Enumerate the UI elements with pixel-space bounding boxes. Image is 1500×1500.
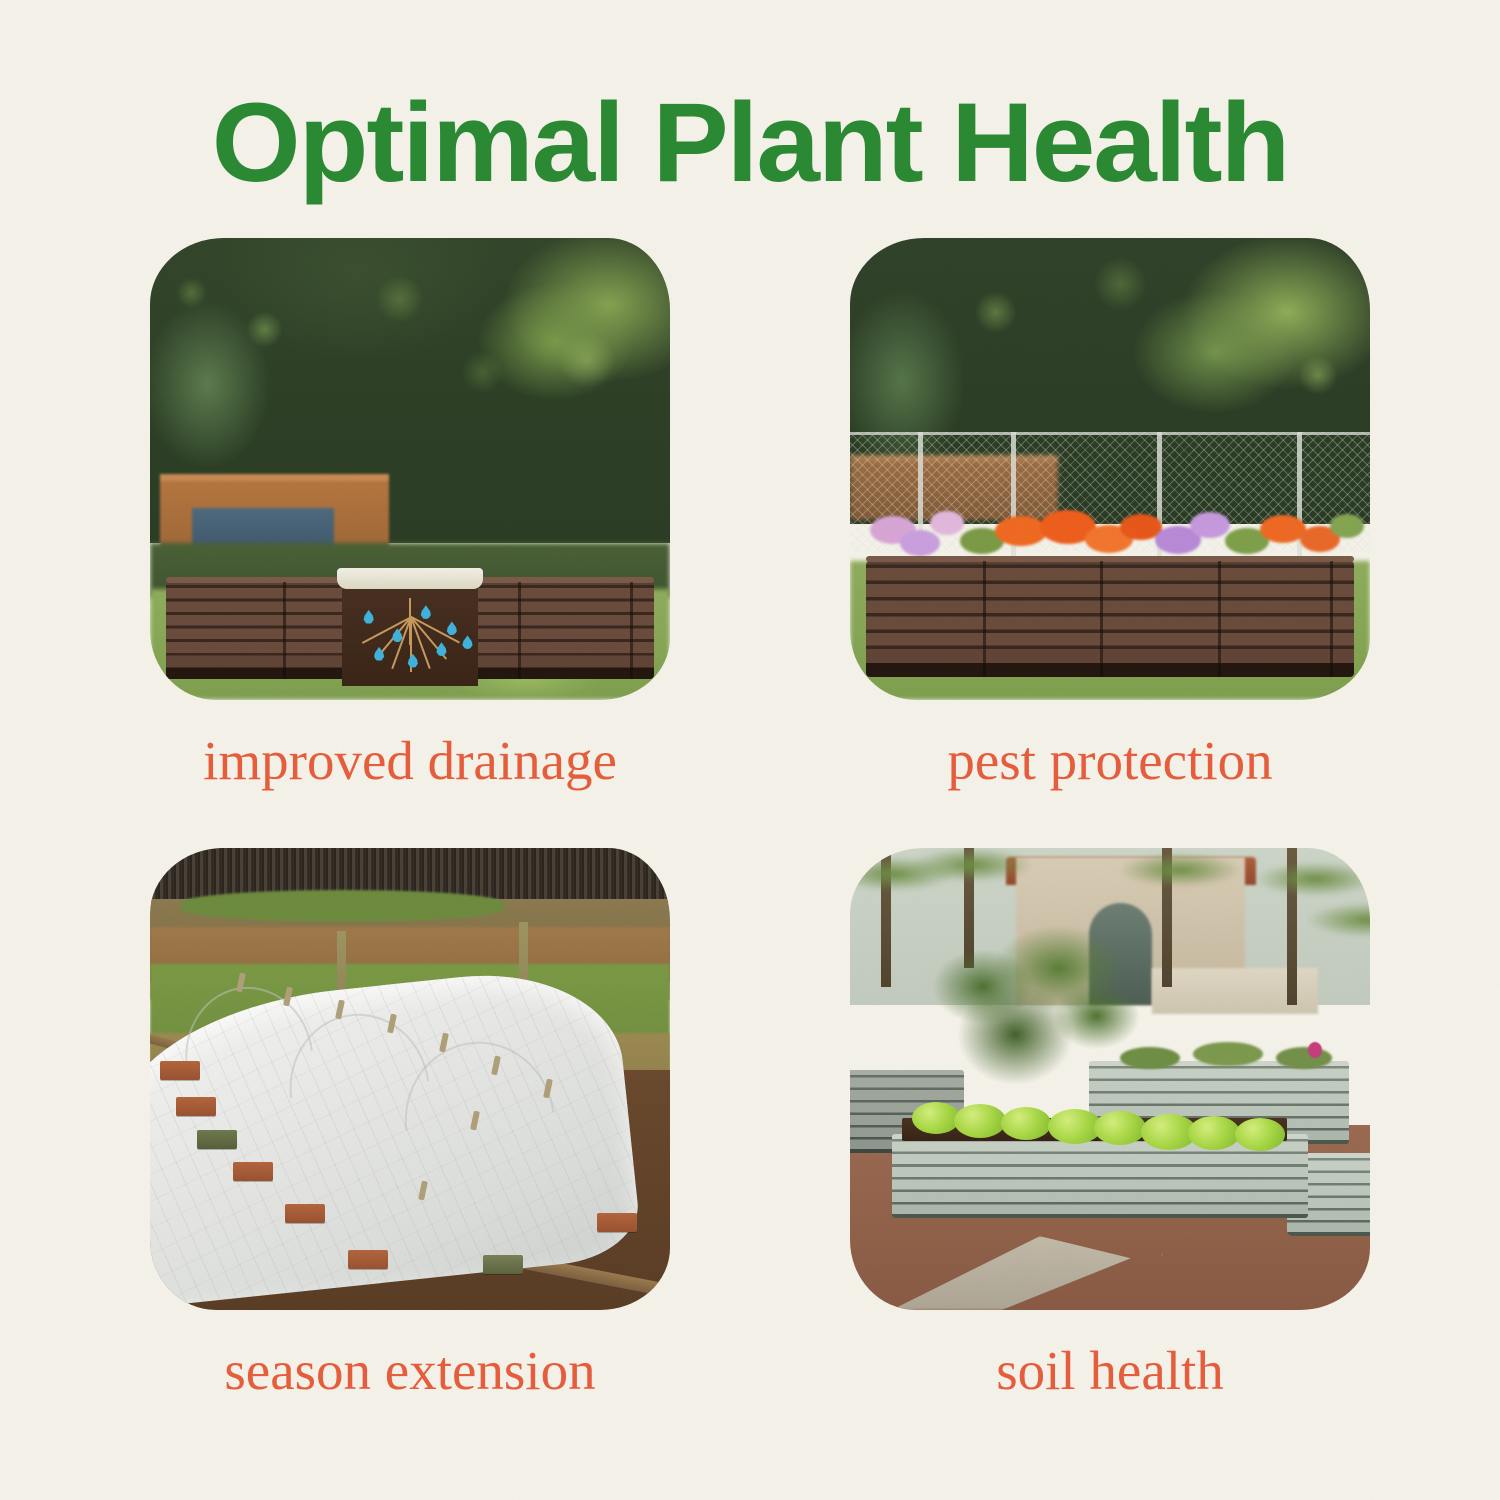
photo-improved-drainage[interactable] <box>150 238 670 700</box>
brick-weight <box>160 1061 200 1080</box>
feature-grid: improved drainage <box>150 238 1370 1448</box>
brick-weight <box>597 1213 637 1232</box>
feature-card-season-extension[interactable]: season extension <box>150 848 670 1310</box>
photo-soil-health[interactable] <box>850 848 1370 1310</box>
brick-weight <box>176 1097 216 1116</box>
caption-season-extension: season extension <box>110 1340 710 1402</box>
brick-weight <box>285 1204 325 1223</box>
feature-card-soil-health[interactable]: soil health <box>850 848 1370 1310</box>
feature-card-improved-drainage[interactable]: improved drainage <box>150 238 670 700</box>
caption-soil-health: soil health <box>810 1340 1410 1402</box>
caption-pest-protection: pest protection <box>810 730 1410 792</box>
brick-weight <box>233 1162 273 1181</box>
caption-improved-drainage: improved drainage <box>110 730 710 792</box>
brick-weight <box>483 1255 523 1274</box>
brick-weight <box>197 1130 237 1149</box>
feature-card-pest-protection[interactable]: pest protection <box>850 238 1370 700</box>
photo-pest-protection[interactable] <box>850 238 1370 700</box>
flower-cluster <box>860 497 1359 562</box>
brick-weight <box>348 1250 388 1269</box>
raised-bed-brown <box>866 561 1355 677</box>
poster-canvas: Optimal Plant Health <box>0 0 1500 1500</box>
page-title: Optimal Plant Health <box>0 84 1500 202</box>
photo-season-extension[interactable] <box>150 848 670 1310</box>
